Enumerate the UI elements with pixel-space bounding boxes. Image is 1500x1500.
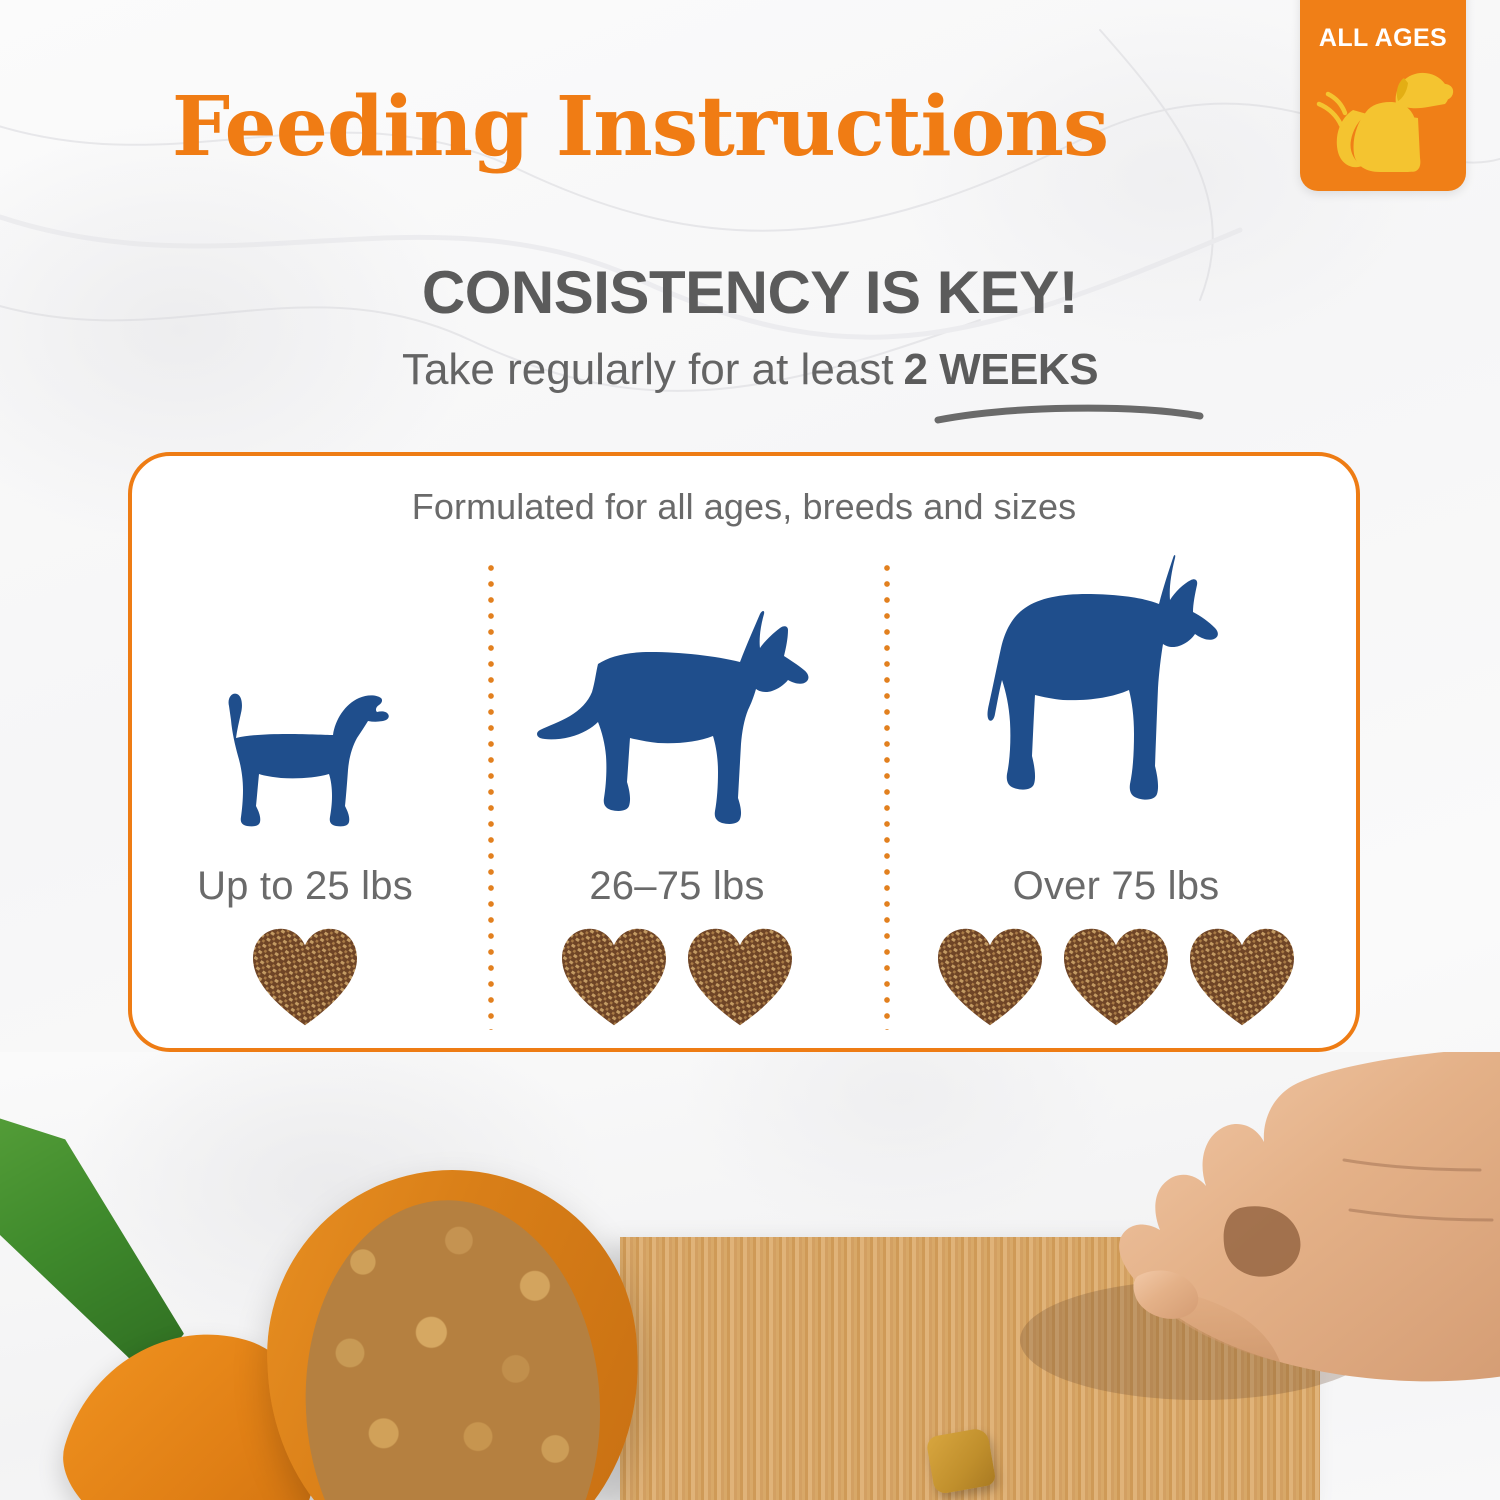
kibble-heart-icon <box>684 925 796 1029</box>
size-column-medium: 26–75 lbs <box>478 552 876 1048</box>
large-dog-silhouette <box>961 552 1271 852</box>
hand-holding-kibble <box>940 1052 1500 1440</box>
all-ages-badge: ALL AGES <box>1300 0 1466 191</box>
medium-dog-silhouette <box>532 552 822 852</box>
size-column-large: Over 75 lbs <box>876 552 1356 1048</box>
subline-emphasis: 2 WEEKS <box>904 345 1099 394</box>
kibble-heart-icon <box>558 925 670 1029</box>
size-label-medium: 26–75 lbs <box>589 864 764 909</box>
kibble-heart-icon <box>934 925 1046 1029</box>
size-label-large: Over 75 lbs <box>1013 864 1220 909</box>
large-dog-icon <box>961 552 1271 852</box>
size-columns: Up to 25 lbs <box>132 552 1356 1048</box>
feeding-chart-card: Formulated for all ages, breeds and size… <box>128 452 1360 1052</box>
medium-dog-icon <box>532 602 822 852</box>
size-label-small: Up to 25 lbs <box>197 864 413 909</box>
card-heading: Formulated for all ages, breeds and size… <box>132 486 1356 528</box>
subline: Take regularly for at least2 WEEKS <box>0 345 1500 395</box>
badge-label: ALL AGES <box>1300 24 1466 53</box>
subline-prefix: Take regularly for at least <box>402 345 894 394</box>
page-title: Feeding Instructions <box>0 86 1280 168</box>
size-column-small: Up to 25 lbs <box>132 552 478 1048</box>
kibble-heart-icon <box>249 925 361 1029</box>
kibble-heart-icon <box>1060 925 1172 1029</box>
kibble-amount-small <box>249 925 361 1029</box>
kibble-amount-medium <box>558 925 796 1029</box>
bowl-kibble-fill <box>295 1193 610 1500</box>
product-photo <box>0 1052 1500 1500</box>
kibble-amount-large <box>934 925 1298 1029</box>
small-dog-silhouette <box>205 552 405 852</box>
small-dog-icon <box>205 672 405 852</box>
sitting-dog-icon <box>1312 54 1454 178</box>
kibble-heart-icon <box>1186 925 1298 1029</box>
kicker-heading: CONSISTENCY IS KEY! <box>0 258 1500 327</box>
